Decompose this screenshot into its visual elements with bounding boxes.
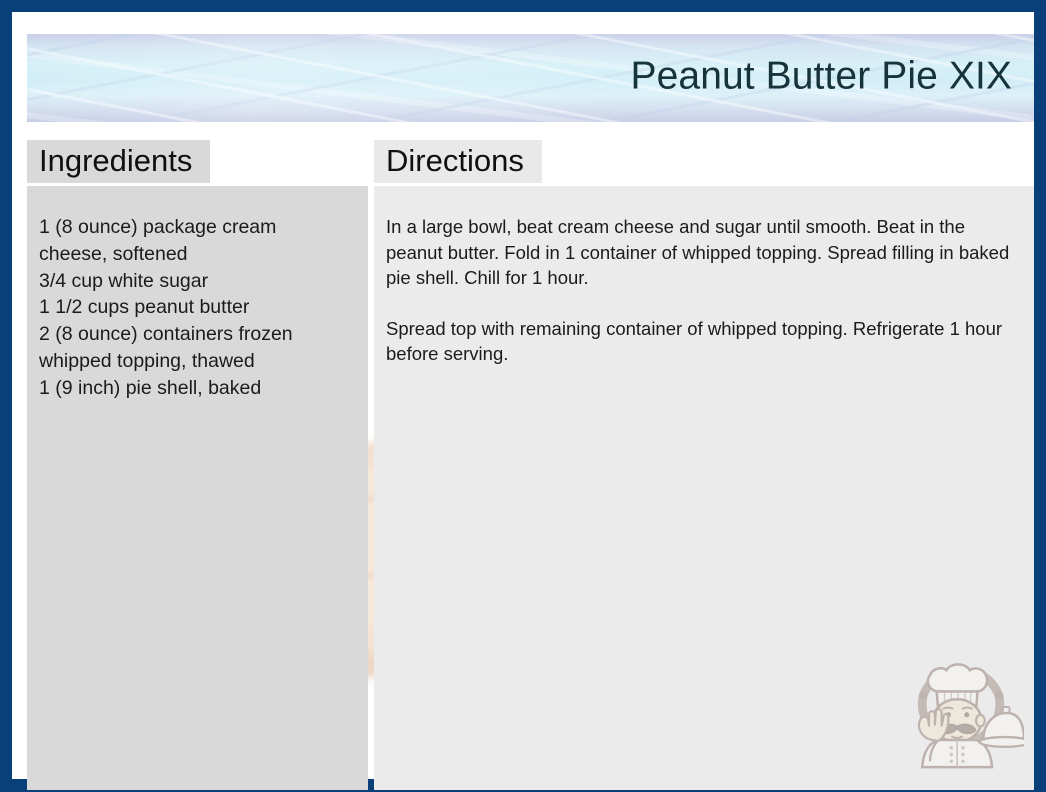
- direction-paragraph: In a large bowl, beat cream cheese and s…: [386, 214, 1018, 291]
- list-item: 1 1/2 cups peanut butter: [39, 294, 352, 321]
- ingredients-list: 1 (8 ounce) package cream cheese, soften…: [27, 186, 368, 790]
- ingredients-heading: Ingredients: [27, 140, 210, 183]
- title-banner: Peanut Butter Pie XIX: [27, 34, 1034, 122]
- directions-heading: Directions: [374, 140, 542, 183]
- list-item: cheese, softened: [39, 241, 352, 268]
- list-item: 1 (8 ounce) package cream: [39, 214, 352, 241]
- page-title: Peanut Butter Pie XIX: [631, 56, 1013, 99]
- list-item: 1 (9 inch) pie shell, baked: [39, 375, 352, 402]
- list-item: 2 (8 ounce) containers frozen: [39, 321, 352, 348]
- chef-with-cloche-logo: [898, 645, 1024, 771]
- list-item: 3/4 cup white sugar: [39, 268, 352, 295]
- list-item: whipped topping, thawed: [39, 348, 352, 375]
- ingredients-column: 1 (8 ounce) package cream cheese, soften…: [27, 140, 368, 183]
- directions-column: In a large bowl, beat cream cheese and s…: [374, 140, 1034, 183]
- slide-content-area: Peanut Butter Pie XIX: [12, 12, 1034, 779]
- direction-paragraph: Spread top with remaining container of w…: [386, 316, 1018, 367]
- recipe-slide: Peanut Butter Pie XIX: [0, 0, 1046, 792]
